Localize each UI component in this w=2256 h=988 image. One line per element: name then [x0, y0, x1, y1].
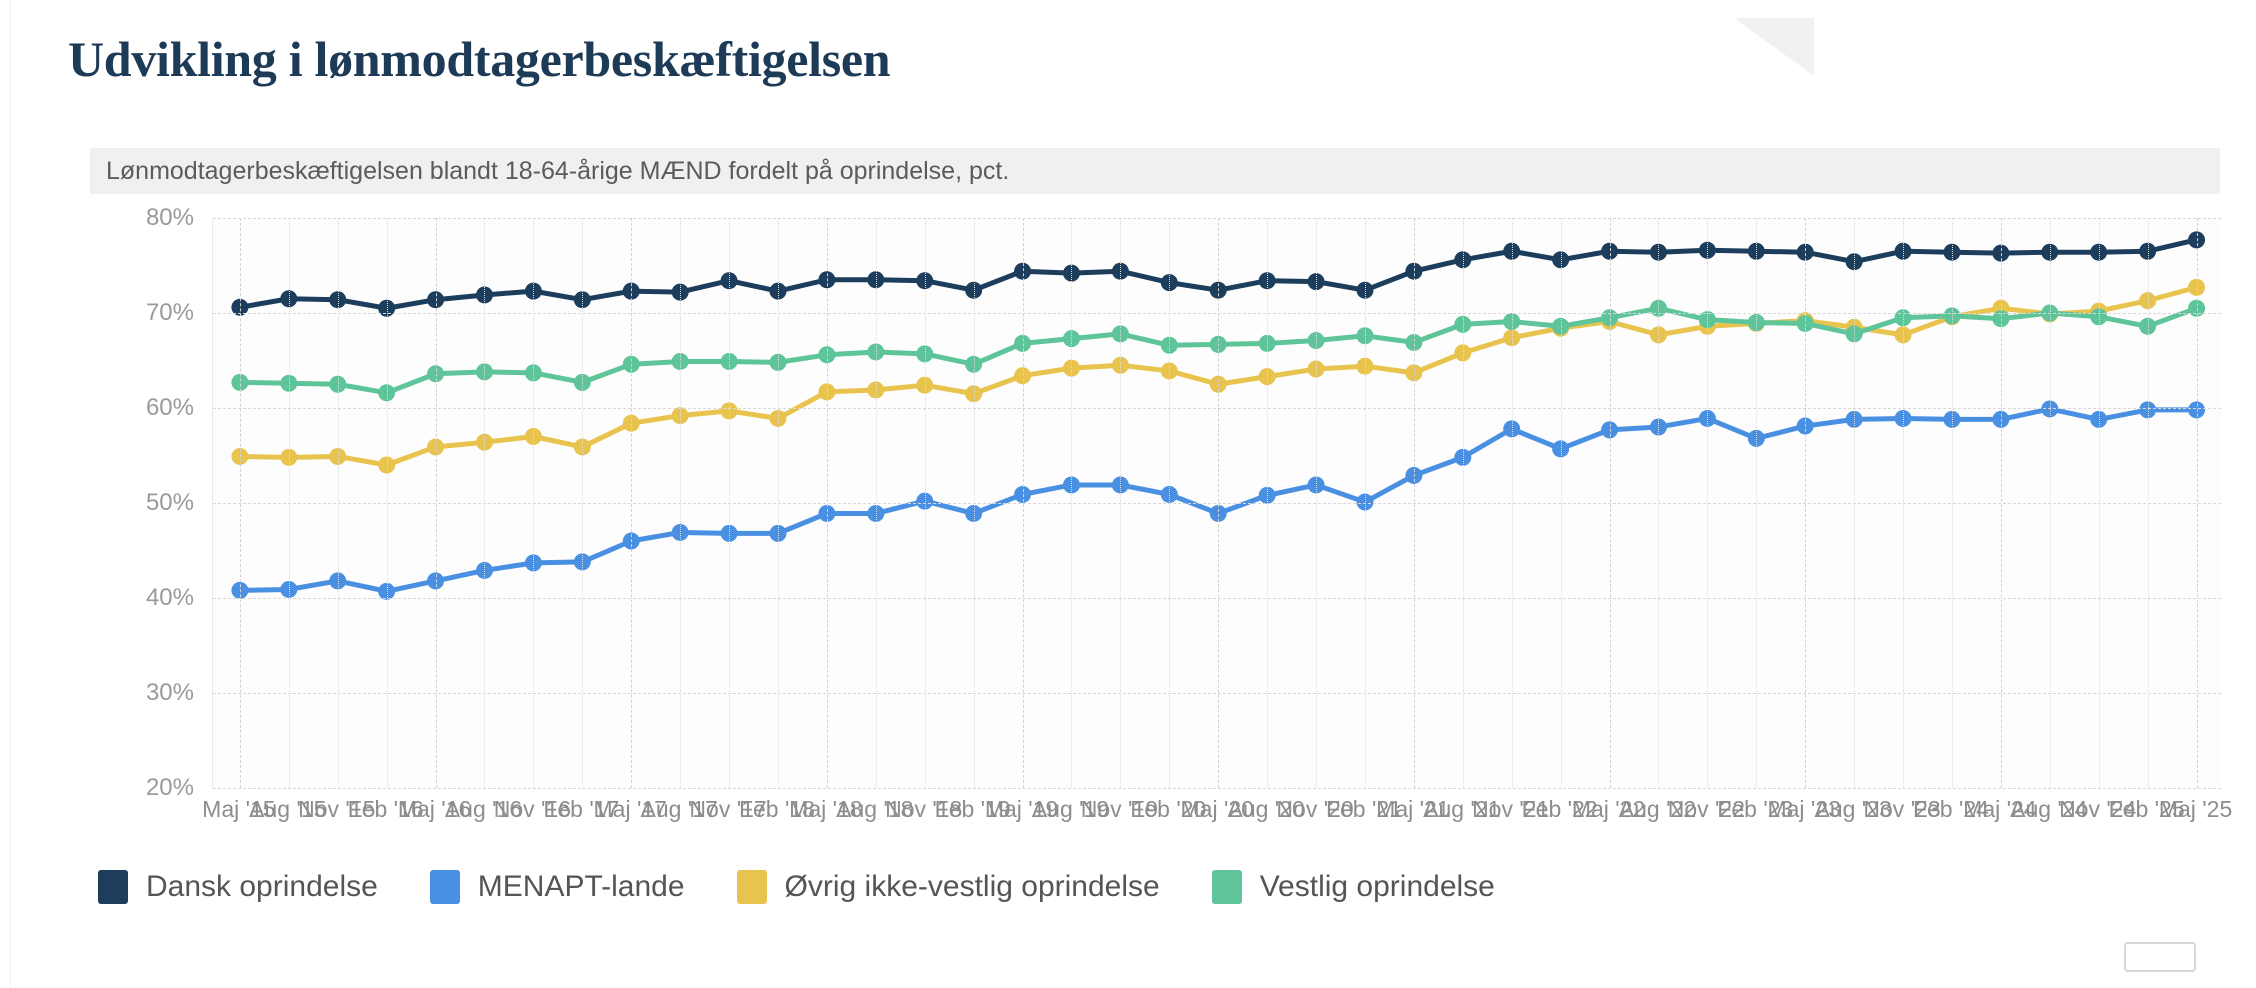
y-axis-tick-label: 30% [146, 679, 194, 707]
legend-swatch-icon [430, 870, 460, 904]
legend-item-label: Vestlig oprindelse [1260, 870, 1495, 904]
page-title: Udvikling i lønmodtagerbeskæftigelsen [68, 30, 890, 88]
gridline-vertical [974, 218, 975, 788]
legend-item-label: Øvrig ikke-vestlig oprindelse [785, 870, 1160, 904]
gridline-vertical [1071, 218, 1072, 788]
gridline-vertical [484, 218, 485, 788]
gridline-horizontal [213, 598, 2221, 599]
gridline-horizontal [213, 788, 2221, 789]
gridline-vertical [1854, 218, 1855, 788]
legend-item[interactable]: MENAPT-lande [430, 870, 685, 904]
gridline-vertical [1169, 218, 1170, 788]
gridline-horizontal [213, 693, 2221, 694]
y-axis-tick-label: 20% [146, 774, 194, 802]
bottom-right-chip[interactable] [2124, 942, 2196, 972]
legend-item-label: MENAPT-lande [478, 870, 685, 904]
y-axis-tick-label: 40% [146, 584, 194, 612]
gridline-vertical [1023, 218, 1024, 788]
chart-legend: Dansk oprindelseMENAPT-landeØvrig ikke-v… [98, 870, 1495, 904]
gridline-vertical [2148, 218, 2149, 788]
y-axis: 20%30%40%50%60%70%80% [90, 218, 212, 788]
gridline-vertical [876, 218, 877, 788]
gridline-vertical [2197, 218, 2198, 788]
gridline-vertical [1267, 218, 1268, 788]
gridline-vertical [2050, 218, 2051, 788]
legend-swatch-icon [737, 870, 767, 904]
gridline-vertical [2001, 218, 2002, 788]
legend-swatch-icon [98, 870, 128, 904]
plot-area [212, 218, 2221, 788]
gridline-vertical [1218, 218, 1219, 788]
gridline-vertical [387, 218, 388, 788]
legend-item-label: Dansk oprindelse [146, 870, 378, 904]
gridline-horizontal [213, 218, 2221, 219]
y-axis-tick-label: 80% [146, 204, 194, 232]
y-axis-tick-label: 60% [146, 394, 194, 422]
plot-wrapper: 20%30%40%50%60%70%80% Maj '15Aug '15Nov … [90, 218, 2220, 848]
gridline-vertical [289, 218, 290, 788]
gridline-vertical [1707, 218, 1708, 788]
gridline-vertical [1561, 218, 1562, 788]
gridline-vertical [1316, 218, 1317, 788]
legend-item[interactable]: Dansk oprindelse [98, 870, 378, 904]
x-axis: Maj '15Aug '15Nov '15Feb '16Maj '16Aug '… [212, 790, 2220, 840]
y-axis-tick-label: 50% [146, 489, 194, 517]
gridline-vertical [582, 218, 583, 788]
gridline-vertical [729, 218, 730, 788]
x-axis-tick-label: Maj '25 [2159, 796, 2232, 823]
chart-subtitle: Lønmodtagerbeskæftigelsen blandt 18-64-å… [90, 157, 1009, 186]
gridline-vertical [2099, 218, 2100, 788]
gridline-vertical [1120, 218, 1121, 788]
gridline-vertical [631, 218, 632, 788]
chart-card: Udvikling i lønmodtagerbeskæftigelsen Lø… [12, 8, 2244, 980]
legend-swatch-icon [1212, 870, 1242, 904]
gridline-horizontal [213, 408, 2221, 409]
legend-item[interactable]: Vestlig oprindelse [1212, 870, 1495, 904]
gridline-vertical [436, 218, 437, 788]
gridline-vertical [827, 218, 828, 788]
gridline-vertical [338, 218, 339, 788]
gridline-horizontal [213, 313, 2221, 314]
gridline-vertical [680, 218, 681, 788]
legend-item[interactable]: Øvrig ikke-vestlig oprindelse [737, 870, 1160, 904]
gridline-vertical [240, 218, 241, 788]
gridline-vertical [925, 218, 926, 788]
y-axis-tick-label: 70% [146, 299, 194, 327]
corner-fold-decoration [1734, 18, 1814, 76]
gridline-vertical [1512, 218, 1513, 788]
gridline-vertical [1463, 218, 1464, 788]
gridline-vertical [1952, 218, 1953, 788]
gridline-vertical [1805, 218, 1806, 788]
chart-page: Udvikling i lønmodtagerbeskæftigelsen Lø… [0, 0, 2256, 988]
gridline-vertical [1365, 218, 1366, 788]
gridline-vertical [1658, 218, 1659, 788]
gridline-vertical [533, 218, 534, 788]
subtitle-bar: Lønmodtagerbeskæftigelsen blandt 18-64-å… [90, 148, 2220, 194]
page-top-edge [0, 0, 2256, 8]
gridline-horizontal [213, 503, 2221, 504]
page-left-edge [0, 0, 11, 988]
gridline-vertical [778, 218, 779, 788]
gridline-vertical [1756, 218, 1757, 788]
gridline-vertical [1903, 218, 1904, 788]
gridline-vertical [1414, 218, 1415, 788]
gridline-vertical [1610, 218, 1611, 788]
